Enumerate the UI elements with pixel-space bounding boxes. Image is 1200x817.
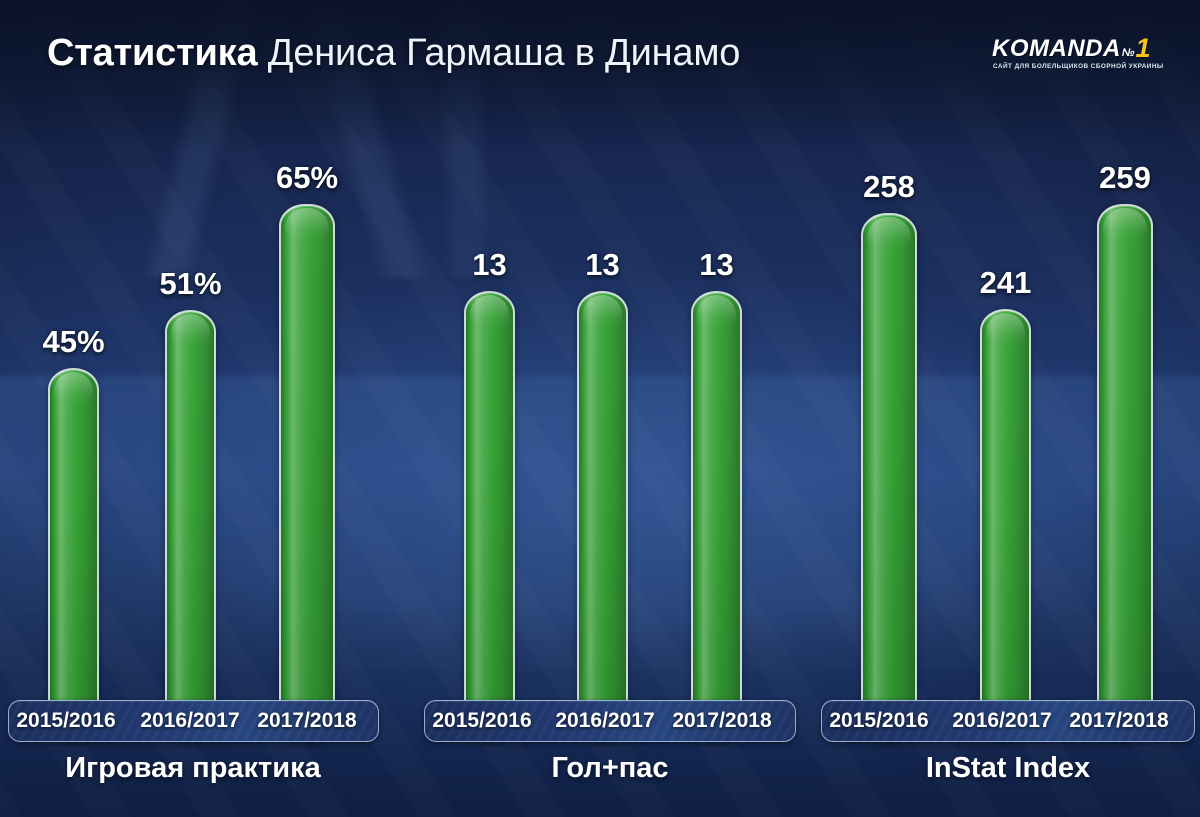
bar-column: 13 — [464, 291, 515, 740]
bar-rect — [577, 291, 628, 740]
bar-value-label: 258 — [863, 169, 915, 205]
bar-rect — [691, 291, 742, 740]
season-tick-label: 2016/2017 — [555, 709, 654, 733]
bar-column: 51% — [165, 310, 216, 740]
bar-rect — [279, 204, 335, 740]
bar-value-label: 51% — [159, 266, 221, 302]
season-tick-label: 2016/2017 — [952, 709, 1051, 733]
group-title: Игровая практика — [65, 752, 320, 785]
bar-rect — [464, 291, 515, 740]
bar-value-label: 13 — [585, 247, 619, 283]
bar-column: 45% — [48, 368, 99, 740]
season-tick-label: 2015/2016 — [829, 709, 928, 733]
season-tick-label: 2017/2018 — [257, 709, 356, 733]
bar-value-label: 241 — [980, 265, 1032, 301]
bar-rect — [861, 213, 917, 740]
bar-rect — [1097, 204, 1153, 740]
bar-chart: 45%51%65%1313132582412592015/20162016/20… — [0, 0, 1200, 817]
season-tick-label: 2015/2016 — [432, 709, 531, 733]
group-title: InStat Index — [926, 752, 1090, 785]
bar-column: 65% — [279, 204, 335, 740]
season-tick-label: 2017/2018 — [672, 709, 771, 733]
bar-column: 13 — [691, 291, 742, 740]
bar-value-label: 259 — [1099, 160, 1151, 196]
bar-column: 241 — [980, 309, 1031, 740]
bar-rect — [980, 309, 1031, 740]
season-tick-label: 2015/2016 — [16, 709, 115, 733]
bar-value-label: 13 — [472, 247, 506, 283]
group-title: Гол+пас — [551, 752, 668, 785]
bar-rect — [48, 368, 99, 740]
bar-column: 13 — [577, 291, 628, 740]
bar-rect — [165, 310, 216, 740]
season-tick-label: 2017/2018 — [1069, 709, 1168, 733]
bar-value-label: 13 — [699, 247, 733, 283]
bar-value-label: 65% — [276, 160, 338, 196]
bar-value-label: 45% — [42, 324, 104, 360]
bar-column: 259 — [1097, 204, 1153, 740]
season-tick-label: 2016/2017 — [140, 709, 239, 733]
infographic-canvas: Статистика Дениса Гармаша в Динамо KOMAN… — [0, 0, 1200, 817]
bar-column: 258 — [861, 213, 917, 740]
